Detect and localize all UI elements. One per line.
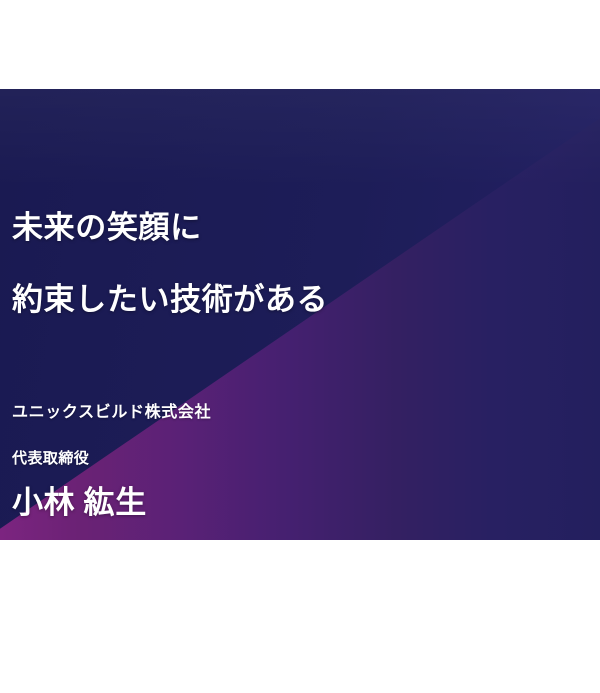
person-name: 小林 紘生 xyxy=(12,487,147,518)
person-role: 代表取締役 xyxy=(12,452,89,467)
headline-line-1: 未来の笑顔に xyxy=(12,212,202,243)
page-root: 未来の笑顔に 約束したい技術がある ユニックスビルド株式会社 代表取締役 小林 … xyxy=(0,0,600,693)
bottom-whitespace xyxy=(0,540,600,693)
company-name: ユニックスビルド株式会社 xyxy=(12,405,211,421)
hero-content: 未来の笑顔に 約束したい技術がある ユニックスビルド株式会社 代表取締役 小林 … xyxy=(0,89,600,540)
headline-line-2: 約束したい技術がある xyxy=(12,284,328,315)
top-whitespace xyxy=(0,0,600,89)
hero-banner: 未来の笑顔に 約束したい技術がある ユニックスビルド株式会社 代表取締役 小林 … xyxy=(0,89,600,540)
